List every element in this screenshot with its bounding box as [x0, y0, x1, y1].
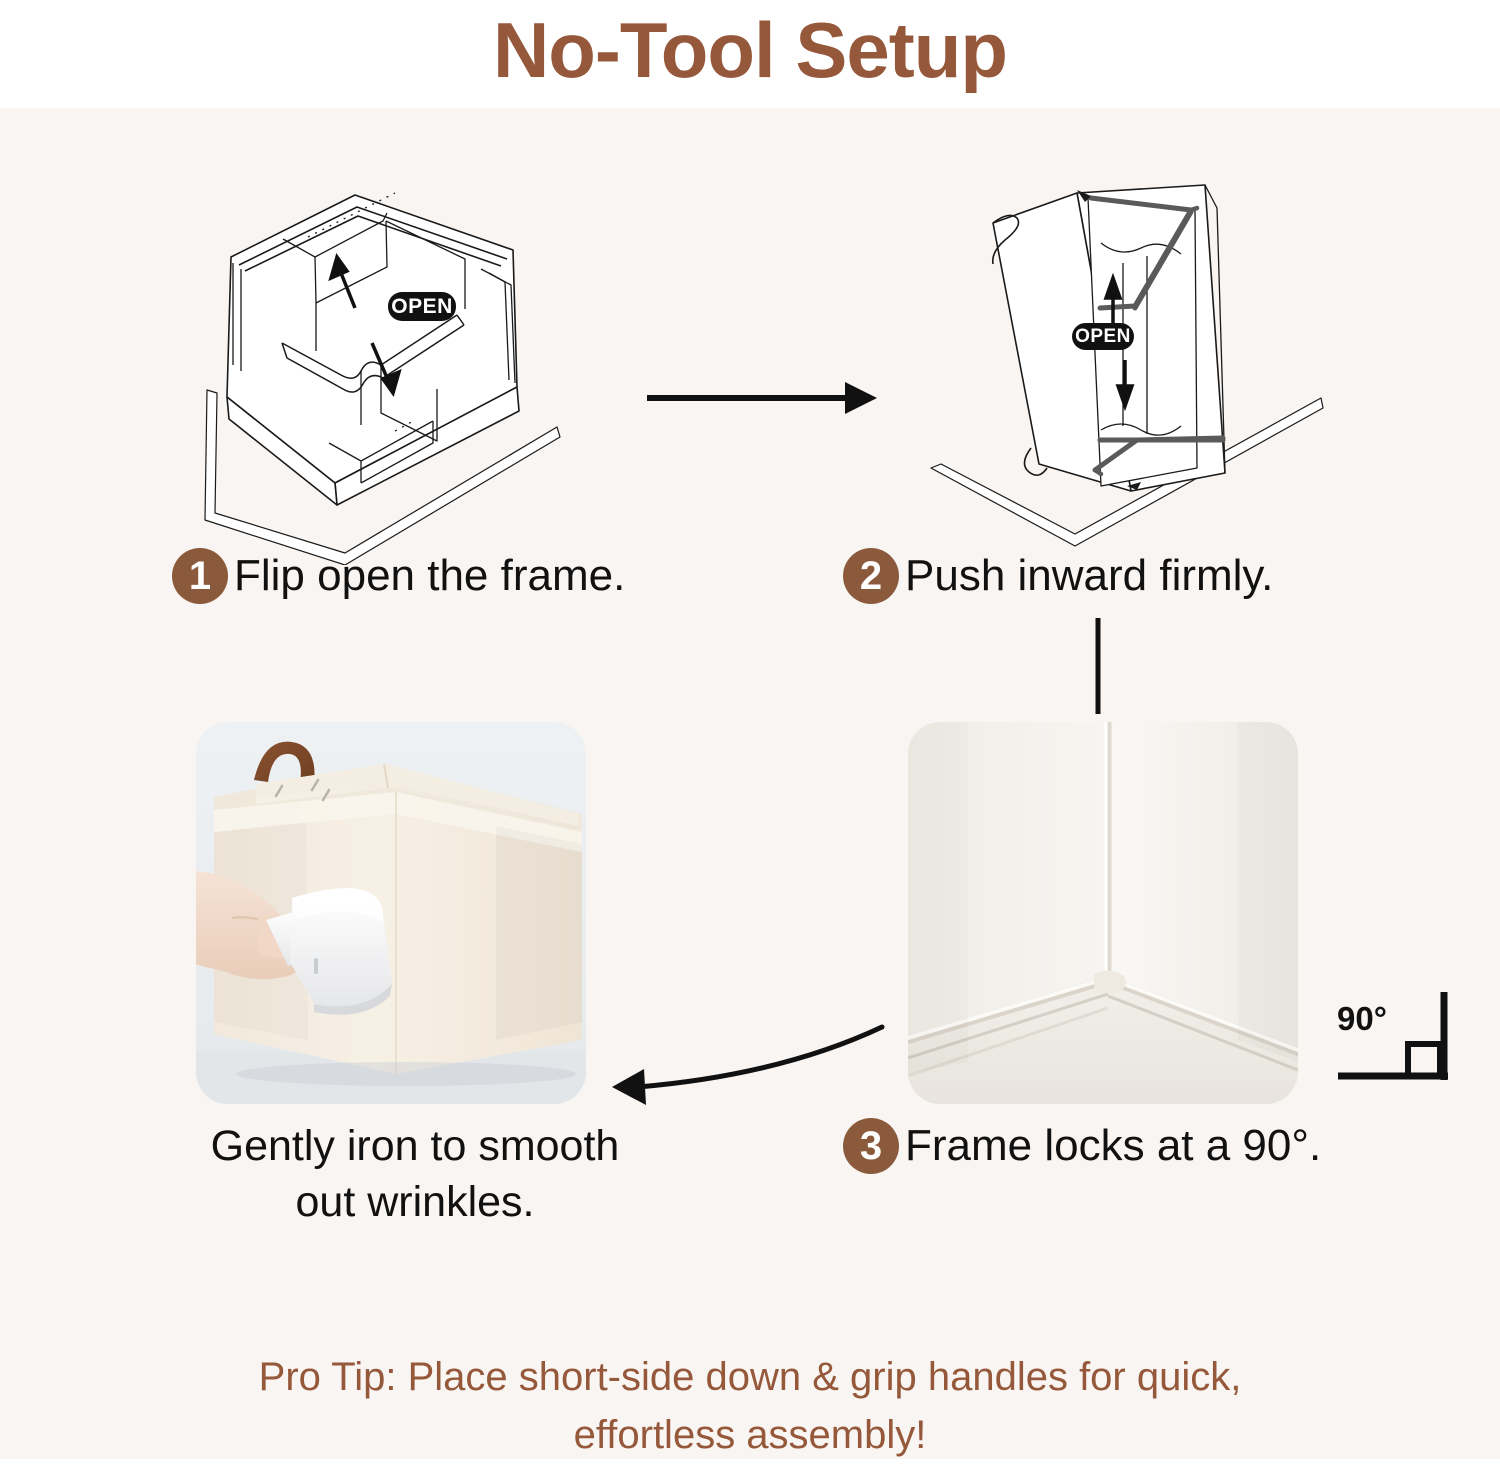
- step-1-caption: 1 Flip open the frame.: [172, 548, 625, 604]
- step-3-caption: 3 Frame locks at a 90°.: [843, 1118, 1321, 1174]
- connector-step2-to-step3: [1092, 618, 1104, 714]
- step-2-badge: 2: [843, 548, 899, 604]
- open-badge-step1: OPEN: [388, 292, 456, 321]
- step-2-caption: 2 Push inward firmly.: [843, 548, 1273, 604]
- page-title: No-Tool Setup: [0, 0, 1500, 102]
- step-1-badge: 1: [172, 548, 228, 604]
- step-1-label: Flip open the frame.: [234, 551, 625, 601]
- arrow-step3-to-iron: [600, 1015, 890, 1110]
- pro-tip-line1: Pro Tip: Place short-side down & grip ha…: [0, 1348, 1500, 1406]
- right-angle-icon: [1330, 988, 1460, 1088]
- arrow-step1-to-step2: [645, 378, 880, 418]
- infographic-page: No-Tool Setup: [0, 0, 1500, 1459]
- step-2-label: Push inward firmly.: [905, 551, 1273, 601]
- iron-caption-line1: Gently iron to smooth: [150, 1118, 680, 1174]
- photo-bin-with-steamer: [196, 722, 586, 1104]
- step2-illustration: [905, 168, 1325, 558]
- iron-caption-line2: out wrinkles.: [150, 1174, 680, 1230]
- step1-illustration: [165, 175, 585, 565]
- pro-tip: Pro Tip: Place short-side down & grip ha…: [0, 1348, 1500, 1464]
- step-3-label: Frame locks at a 90°.: [905, 1121, 1321, 1171]
- step-3-badge: 3: [843, 1118, 899, 1174]
- iron-caption: Gently iron to smooth out wrinkles.: [150, 1118, 680, 1230]
- pro-tip-line2: effortless assembly!: [0, 1406, 1500, 1464]
- open-badge-step2: OPEN: [1072, 323, 1134, 350]
- photo-corner-closeup: [908, 722, 1298, 1104]
